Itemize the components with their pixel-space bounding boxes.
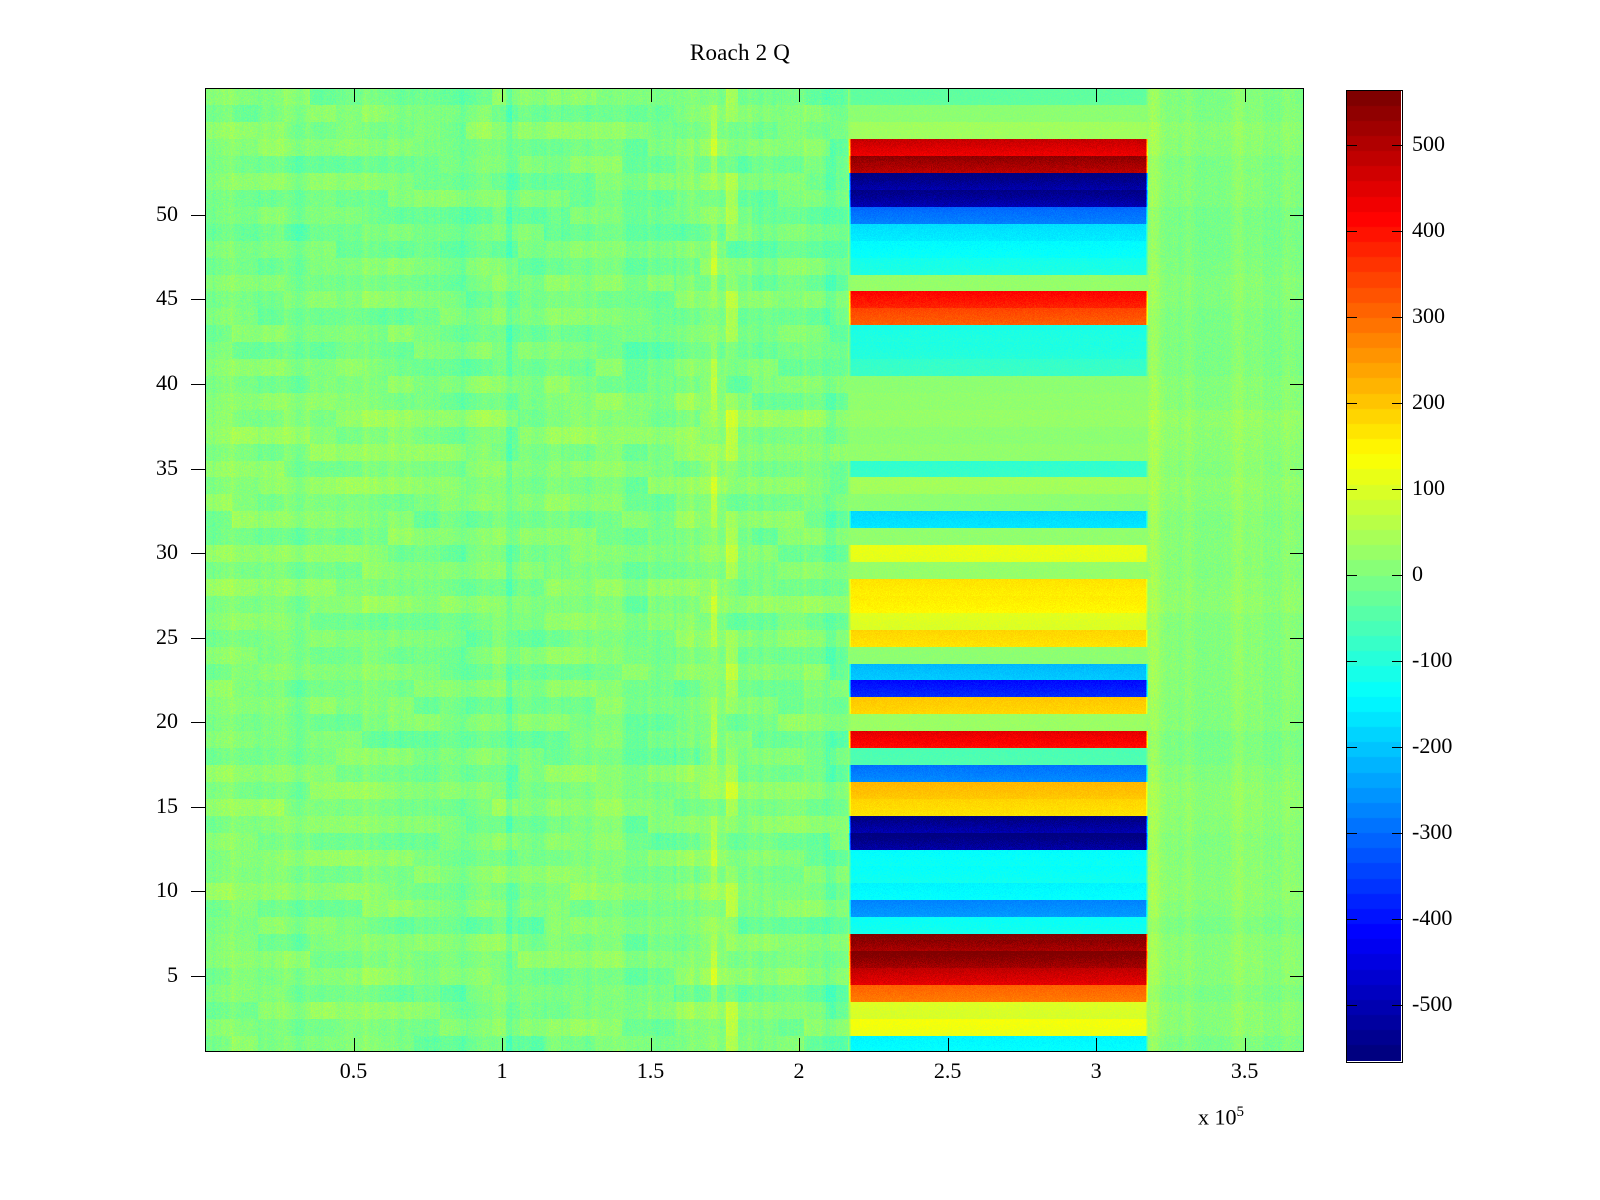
y-axis-tick-label: 30 <box>118 541 178 563</box>
heatmap-axes[interactable] <box>205 88 1304 1052</box>
y-axis-tick <box>1290 553 1304 554</box>
colorbar-tick <box>1392 403 1403 404</box>
y-axis-tick <box>191 553 205 554</box>
x-axis-tick <box>502 1038 503 1052</box>
colorbar-tick <box>1392 231 1403 232</box>
colorbar-tick-label: -200 <box>1412 735 1452 757</box>
colorbar-tick-label: -300 <box>1412 821 1452 843</box>
x-axis-tick <box>651 88 652 102</box>
colorbar-tick <box>1346 747 1357 748</box>
y-axis-tick <box>1290 299 1304 300</box>
y-axis-tick-label: 20 <box>118 710 178 732</box>
x-axis-tick <box>1245 1038 1246 1052</box>
x-axis-exponent: x 105 <box>1198 1104 1244 1130</box>
colorbar-tick-label: 0 <box>1412 563 1423 585</box>
x-axis-tick-label: 1 <box>462 1060 542 1082</box>
colorbar-tick <box>1392 661 1403 662</box>
figure-root: Roach 2 Q x 105 51015202530354045500.511… <box>0 0 1600 1200</box>
x-axis-tick-label: 2.5 <box>908 1060 988 1082</box>
y-axis-tick-label: 5 <box>118 964 178 986</box>
y-axis-tick-label: 45 <box>118 287 178 309</box>
x-axis-tick <box>799 1038 800 1052</box>
x-axis-exponent-power: 5 <box>1237 1104 1245 1120</box>
colorbar-tick <box>1392 489 1403 490</box>
colorbar-tick-label: -400 <box>1412 907 1452 929</box>
colorbar-tick <box>1392 1005 1403 1006</box>
y-axis-tick <box>191 891 205 892</box>
colorbar-tick <box>1346 489 1357 490</box>
y-axis-tick-label: 50 <box>118 203 178 225</box>
y-axis-tick <box>1290 976 1304 977</box>
y-axis-tick <box>1290 807 1304 808</box>
y-axis-tick <box>191 722 205 723</box>
x-axis-tick <box>651 1038 652 1052</box>
colorbar-tick <box>1346 919 1357 920</box>
x-axis-tick-label: 3 <box>1056 1060 1136 1082</box>
x-axis-tick-label: 2 <box>759 1060 839 1082</box>
colorbar-tick <box>1346 661 1357 662</box>
y-axis-tick <box>1290 469 1304 470</box>
x-axis-tick <box>948 88 949 102</box>
y-axis-tick-label: 35 <box>118 457 178 479</box>
y-axis-tick <box>1290 215 1304 216</box>
colorbar-tick <box>1392 317 1403 318</box>
colorbar-tick <box>1392 747 1403 748</box>
colorbar-tick <box>1346 403 1357 404</box>
y-axis-tick <box>191 638 205 639</box>
x-axis-tick <box>354 1038 355 1052</box>
colorbar-tick-label: 100 <box>1412 477 1445 499</box>
heatmap-canvas[interactable] <box>206 89 1304 1052</box>
y-axis-tick <box>1290 384 1304 385</box>
y-axis-tick <box>1290 638 1304 639</box>
colorbar-tick <box>1346 1005 1357 1006</box>
y-axis-tick <box>1290 891 1304 892</box>
colorbar-tick <box>1392 919 1403 920</box>
y-axis-tick-label: 10 <box>118 879 178 901</box>
colorbar-tick <box>1346 575 1357 576</box>
colorbar[interactable] <box>1346 90 1403 1063</box>
y-axis-tick <box>191 976 205 977</box>
colorbar-tick <box>1346 317 1357 318</box>
plot-title: Roach 2 Q <box>0 40 1480 66</box>
y-axis-tick-label: 15 <box>118 795 178 817</box>
colorbar-tick-label: 200 <box>1412 391 1445 413</box>
y-axis-tick <box>191 469 205 470</box>
colorbar-tick <box>1346 145 1357 146</box>
x-axis-tick <box>799 88 800 102</box>
x-axis-tick <box>1096 1038 1097 1052</box>
y-axis-tick <box>191 807 205 808</box>
colorbar-tick-label: 400 <box>1412 219 1445 241</box>
y-axis-tick-label: 40 <box>118 372 178 394</box>
colorbar-tick <box>1346 833 1357 834</box>
y-axis-tick <box>191 384 205 385</box>
x-axis-tick-label: 0.5 <box>314 1060 394 1082</box>
colorbar-tick <box>1392 833 1403 834</box>
colorbar-tick <box>1392 575 1403 576</box>
colorbar-tick-label: 500 <box>1412 133 1445 155</box>
colorbar-tick <box>1392 145 1403 146</box>
y-axis-tick <box>191 215 205 216</box>
y-axis-tick <box>1290 722 1304 723</box>
x-axis-tick <box>1245 88 1246 102</box>
x-axis-tick-label: 1.5 <box>611 1060 691 1082</box>
colorbar-tick-label: 300 <box>1412 305 1445 327</box>
colorbar-tick <box>1346 231 1357 232</box>
x-axis-tick <box>1096 88 1097 102</box>
x-axis-tick <box>502 88 503 102</box>
x-axis-tick <box>948 1038 949 1052</box>
y-axis-tick <box>191 299 205 300</box>
x-axis-tick-label: 3.5 <box>1205 1060 1285 1082</box>
y-axis-tick-label: 25 <box>118 626 178 648</box>
x-axis-exponent-label: x 10 <box>1198 1104 1237 1129</box>
colorbar-tick-label: -100 <box>1412 649 1452 671</box>
x-axis-tick <box>354 88 355 102</box>
colorbar-tick-label: -500 <box>1412 993 1452 1015</box>
